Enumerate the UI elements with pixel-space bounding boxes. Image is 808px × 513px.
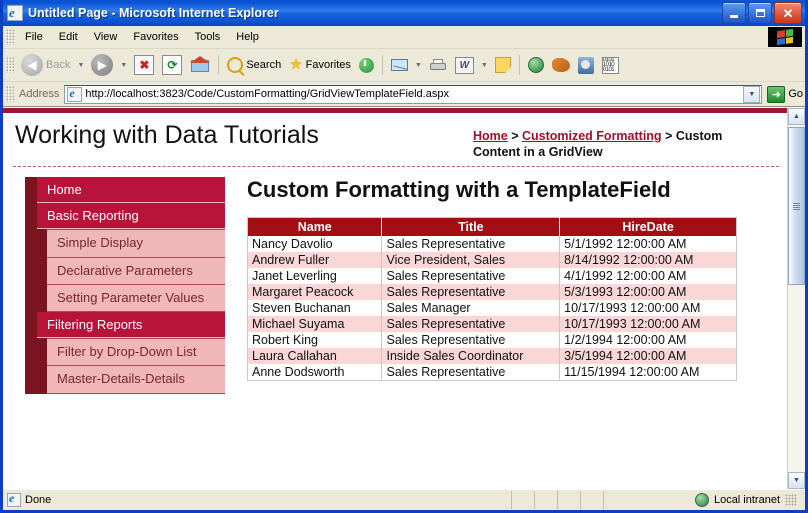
address-input[interactable]: http://localhost:3823/Code/CustomFormatt…	[64, 85, 762, 104]
fox-icon	[552, 58, 570, 72]
code-button[interactable]: 010110100101	[598, 55, 623, 76]
table-row: Andrew Fuller Vice President, Sales 8/14…	[248, 252, 737, 268]
cell-title: Sales Representative	[382, 332, 560, 348]
sidebar-nav: Home Basic Reporting Simple Display	[25, 177, 225, 393]
menu-bar: File Edit View Favorites Tools Help	[3, 26, 805, 49]
address-grip[interactable]	[6, 86, 14, 102]
scroll-up-button[interactable]: ▲	[788, 108, 805, 125]
print-button[interactable]	[425, 57, 451, 74]
web-page: Working with Data Tutorials Home > Custo…	[3, 108, 787, 489]
sidebar-sublist-filtering-reports: Filter by Drop-Down List Master-Details-…	[25, 338, 225, 394]
status-message-pane: Done	[3, 491, 512, 509]
breadcrumb-sep-1: >	[508, 129, 522, 143]
content-heading: Custom Formatting with a TemplateField	[247, 177, 777, 202]
security-zone-text: Local intranet	[714, 494, 780, 506]
menu-item-view[interactable]: View	[86, 28, 126, 46]
table-row: Robert King Sales Representative 1/2/199…	[248, 332, 737, 348]
address-dropdown-icon[interactable]: ▼	[743, 86, 760, 103]
table-header-row: Name Title HireDate	[248, 217, 737, 236]
fox-button[interactable]	[548, 56, 574, 74]
address-label: Address	[17, 88, 64, 100]
go-button[interactable]: ➜ Go	[767, 86, 803, 103]
stop-button[interactable]: ✖	[130, 53, 158, 77]
back-arrow-icon: ◀	[21, 54, 43, 76]
toolbar-separator-2	[382, 55, 383, 75]
minimize-button[interactable]	[722, 2, 746, 24]
menu-item-edit[interactable]: Edit	[51, 28, 86, 46]
refresh-icon: ⟳	[162, 55, 182, 75]
address-page-icon	[67, 87, 82, 102]
search-button[interactable]: Search	[223, 55, 285, 75]
table-row: Michael Suyama Sales Representative 10/1…	[248, 316, 737, 332]
sidebar-stripe	[25, 203, 37, 229]
history-icon	[359, 58, 374, 73]
edit-button[interactable]: W	[451, 55, 478, 76]
window-title: Untitled Page - Microsoft Internet Explo…	[28, 6, 279, 20]
cell-name: Andrew Fuller	[248, 252, 382, 268]
cell-hiredate: 8/14/1992 12:00:00 AM	[560, 252, 737, 268]
cell-name: Steven Buchanan	[248, 300, 382, 316]
refresh-button[interactable]: ⟳	[158, 53, 186, 77]
cell-title: Sales Representative	[382, 364, 560, 381]
window-controls: ✕	[722, 2, 802, 24]
close-button[interactable]: ✕	[774, 2, 802, 24]
stop-icon: ✖	[134, 55, 154, 75]
messenger-button[interactable]	[574, 55, 598, 76]
column-header-title[interactable]: Title	[382, 217, 560, 236]
cell-title: Vice President, Sales	[382, 252, 560, 268]
edit-dropdown-icon[interactable]: ▼	[481, 62, 488, 69]
menu-grip[interactable]	[6, 29, 14, 45]
ie-brand-logo	[768, 27, 802, 47]
cell-name: Anne Dodsworth	[248, 364, 382, 381]
sidebar-stripe	[25, 312, 37, 338]
table-row: Laura Callahan Inside Sales Coordinator …	[248, 348, 737, 364]
cell-title: Sales Representative	[382, 268, 560, 284]
forward-dropdown-icon[interactable]: ▼	[120, 62, 127, 69]
sidebar-section-basic-reporting: Basic Reporting	[25, 203, 225, 229]
menu-item-favorites[interactable]: Favorites	[125, 28, 186, 46]
employees-gridview: Name Title HireDate Nancy Davolio Sales …	[247, 217, 737, 381]
scrollbar-thumb[interactable]	[788, 127, 805, 285]
security-zone-pane[interactable]: Local intranet	[695, 493, 805, 507]
print-icon	[429, 59, 447, 72]
toolbar: ◀ Back ▼ ▶ ▼ ✖ ⟳ Search ★ Favorites	[3, 49, 805, 82]
cell-hiredate: 5/1/1992 12:00:00 AM	[560, 236, 737, 252]
sidebar-substripe	[37, 338, 47, 394]
status-pane-3	[558, 491, 581, 509]
favorites-star-icon: ★	[289, 58, 302, 72]
status-text: Done	[25, 494, 51, 506]
cell-hiredate: 3/5/1994 12:00:00 AM	[560, 348, 737, 364]
sidebar-section-filtering-reports: Filtering Reports	[25, 312, 225, 338]
table-row: Margaret Peacock Sales Representative 5/…	[248, 284, 737, 300]
globe-icon	[528, 57, 544, 73]
favorites-label: Favorites	[306, 59, 351, 71]
sidebar-item-simple-display[interactable]: Simple Display	[47, 229, 225, 257]
back-label: Back	[46, 59, 70, 71]
ie-page-icon	[7, 5, 23, 21]
cell-hiredate: 1/2/1994 12:00:00 AM	[560, 332, 737, 348]
back-dropdown-icon[interactable]: ▼	[77, 62, 84, 69]
main-content: Custom Formatting with a TemplateField N…	[225, 177, 787, 393]
favorites-button[interactable]: ★ Favorites	[285, 56, 355, 74]
menu-item-help[interactable]: Help	[228, 28, 267, 46]
sidebar-stripe	[25, 177, 37, 203]
notes-button[interactable]	[491, 55, 515, 75]
menu-item-tools[interactable]: Tools	[187, 28, 229, 46]
intranet-globe-icon	[695, 493, 709, 507]
cell-hiredate: 4/1/1992 12:00:00 AM	[560, 268, 737, 284]
column-header-name[interactable]: Name	[248, 217, 382, 236]
forward-button[interactable]: ▶	[87, 52, 117, 78]
edit-word-icon: W	[455, 57, 474, 74]
resize-grip-icon[interactable]	[785, 494, 797, 506]
title-bar: Untitled Page - Microsoft Internet Explo…	[3, 0, 805, 26]
toolbar-separator-3	[519, 55, 520, 75]
page-header: Working with Data Tutorials Home > Custo…	[3, 113, 787, 164]
status-bar: Done Local intranet	[3, 489, 805, 510]
sidebar-substripe	[37, 229, 47, 312]
table-row: Janet Leverling Sales Representative 4/1…	[248, 268, 737, 284]
messenger-icon	[578, 57, 594, 74]
sidebar-item-declarative-parameters[interactable]: Declarative Parameters	[47, 258, 225, 285]
cell-name: Robert King	[248, 332, 382, 348]
table-row: Nancy Davolio Sales Representative 5/1/1…	[248, 236, 737, 252]
scrollbar-track[interactable]	[788, 125, 805, 472]
status-page-icon	[7, 493, 21, 507]
code-icon: 010110100101	[602, 57, 619, 74]
cell-title: Inside Sales Coordinator	[382, 348, 560, 364]
mail-button[interactable]	[387, 57, 412, 73]
address-bar: Address http://localhost:3823/Code/Custo…	[3, 82, 805, 107]
cell-title: Sales Representative	[382, 236, 560, 252]
column-header-hiredate[interactable]: HireDate	[560, 217, 737, 236]
sidebar-item-filter-by-drop-down-list[interactable]: Filter by Drop-Down List	[47, 338, 225, 366]
notes-icon	[495, 57, 511, 73]
toolbar-separator	[218, 55, 219, 75]
sidebar-item-filtering-reports[interactable]: Filtering Reports	[37, 312, 225, 338]
table-body: Nancy Davolio Sales Representative 5/1/1…	[248, 236, 737, 381]
cell-name: Margaret Peacock	[248, 284, 382, 300]
breadcrumb-link-home[interactable]: Home	[473, 129, 508, 143]
sidebar-section-home: Home	[25, 177, 225, 203]
sidebar-item-home[interactable]: Home	[37, 177, 225, 203]
cell-name: Michael Suyama	[248, 316, 382, 332]
cell-title: Sales Manager	[382, 300, 560, 316]
page-title: Working with Data Tutorials	[15, 121, 319, 150]
cell-hiredate: 10/17/1993 12:00:00 AM	[560, 316, 737, 332]
go-arrow-icon: ➜	[767, 86, 785, 103]
cell-hiredate: 10/17/1993 12:00:00 AM	[560, 300, 737, 316]
sidebar-item-setting-parameter-values[interactable]: Setting Parameter Values	[47, 285, 225, 312]
mail-icon	[391, 59, 408, 71]
maximize-button[interactable]	[748, 2, 772, 24]
cell-name: Janet Leverling	[248, 268, 382, 284]
vertical-scrollbar[interactable]: ▲ ▼	[787, 108, 805, 489]
cell-title: Sales Representative	[382, 284, 560, 300]
cell-name: Laura Callahan	[248, 348, 382, 364]
page-body: Home Basic Reporting Simple Display	[3, 167, 787, 393]
browser-window: Untitled Page - Microsoft Internet Explo…	[0, 0, 808, 513]
cell-hiredate: 11/15/1994 12:00:00 AM	[560, 364, 737, 381]
sidebar-stripe	[25, 229, 37, 312]
go-label: Go	[788, 88, 803, 100]
breadcrumb-sep-2: >	[662, 129, 676, 143]
address-url-text: http://localhost:3823/Code/CustomFormatt…	[85, 88, 743, 100]
status-pane-1	[512, 491, 535, 509]
menu-item-file[interactable]: File	[17, 28, 51, 46]
history-button[interactable]	[355, 56, 378, 75]
scroll-down-button[interactable]: ▼	[788, 472, 805, 489]
page-viewport: Working with Data Tutorials Home > Custo…	[3, 107, 805, 489]
cell-name: Nancy Davolio	[248, 236, 382, 252]
cell-title: Sales Representative	[382, 316, 560, 332]
globe-button[interactable]	[524, 55, 548, 75]
status-pane-4	[581, 491, 604, 509]
scrollbar-grip-icon	[793, 203, 800, 210]
table-row: Steven Buchanan Sales Manager 10/17/1993…	[248, 300, 737, 316]
status-pane-2	[535, 491, 558, 509]
breadcrumb: Home > Customized Formatting > Custom Co…	[473, 121, 781, 160]
home-button[interactable]	[186, 54, 214, 76]
cell-hiredate: 5/3/1993 12:00:00 AM	[560, 284, 737, 300]
search-icon	[227, 57, 243, 73]
sidebar-item-master-details-details[interactable]: Master-Details-Details	[47, 366, 225, 393]
mail-dropdown-icon[interactable]: ▼	[415, 62, 422, 69]
sidebar-sublist-basic-reporting: Simple Display Declarative Parameters Se…	[25, 229, 225, 312]
back-button[interactable]: ◀ Back	[17, 52, 74, 78]
search-label: Search	[246, 59, 281, 71]
sidebar-stripe	[25, 338, 37, 394]
sidebar-item-basic-reporting[interactable]: Basic Reporting	[37, 203, 225, 229]
toolbar-grip[interactable]	[6, 57, 14, 73]
forward-arrow-icon: ▶	[91, 54, 113, 76]
breadcrumb-link-section[interactable]: Customized Formatting	[522, 129, 662, 143]
table-row: Anne Dodsworth Sales Representative 11/1…	[248, 364, 737, 381]
home-icon	[190, 56, 210, 74]
